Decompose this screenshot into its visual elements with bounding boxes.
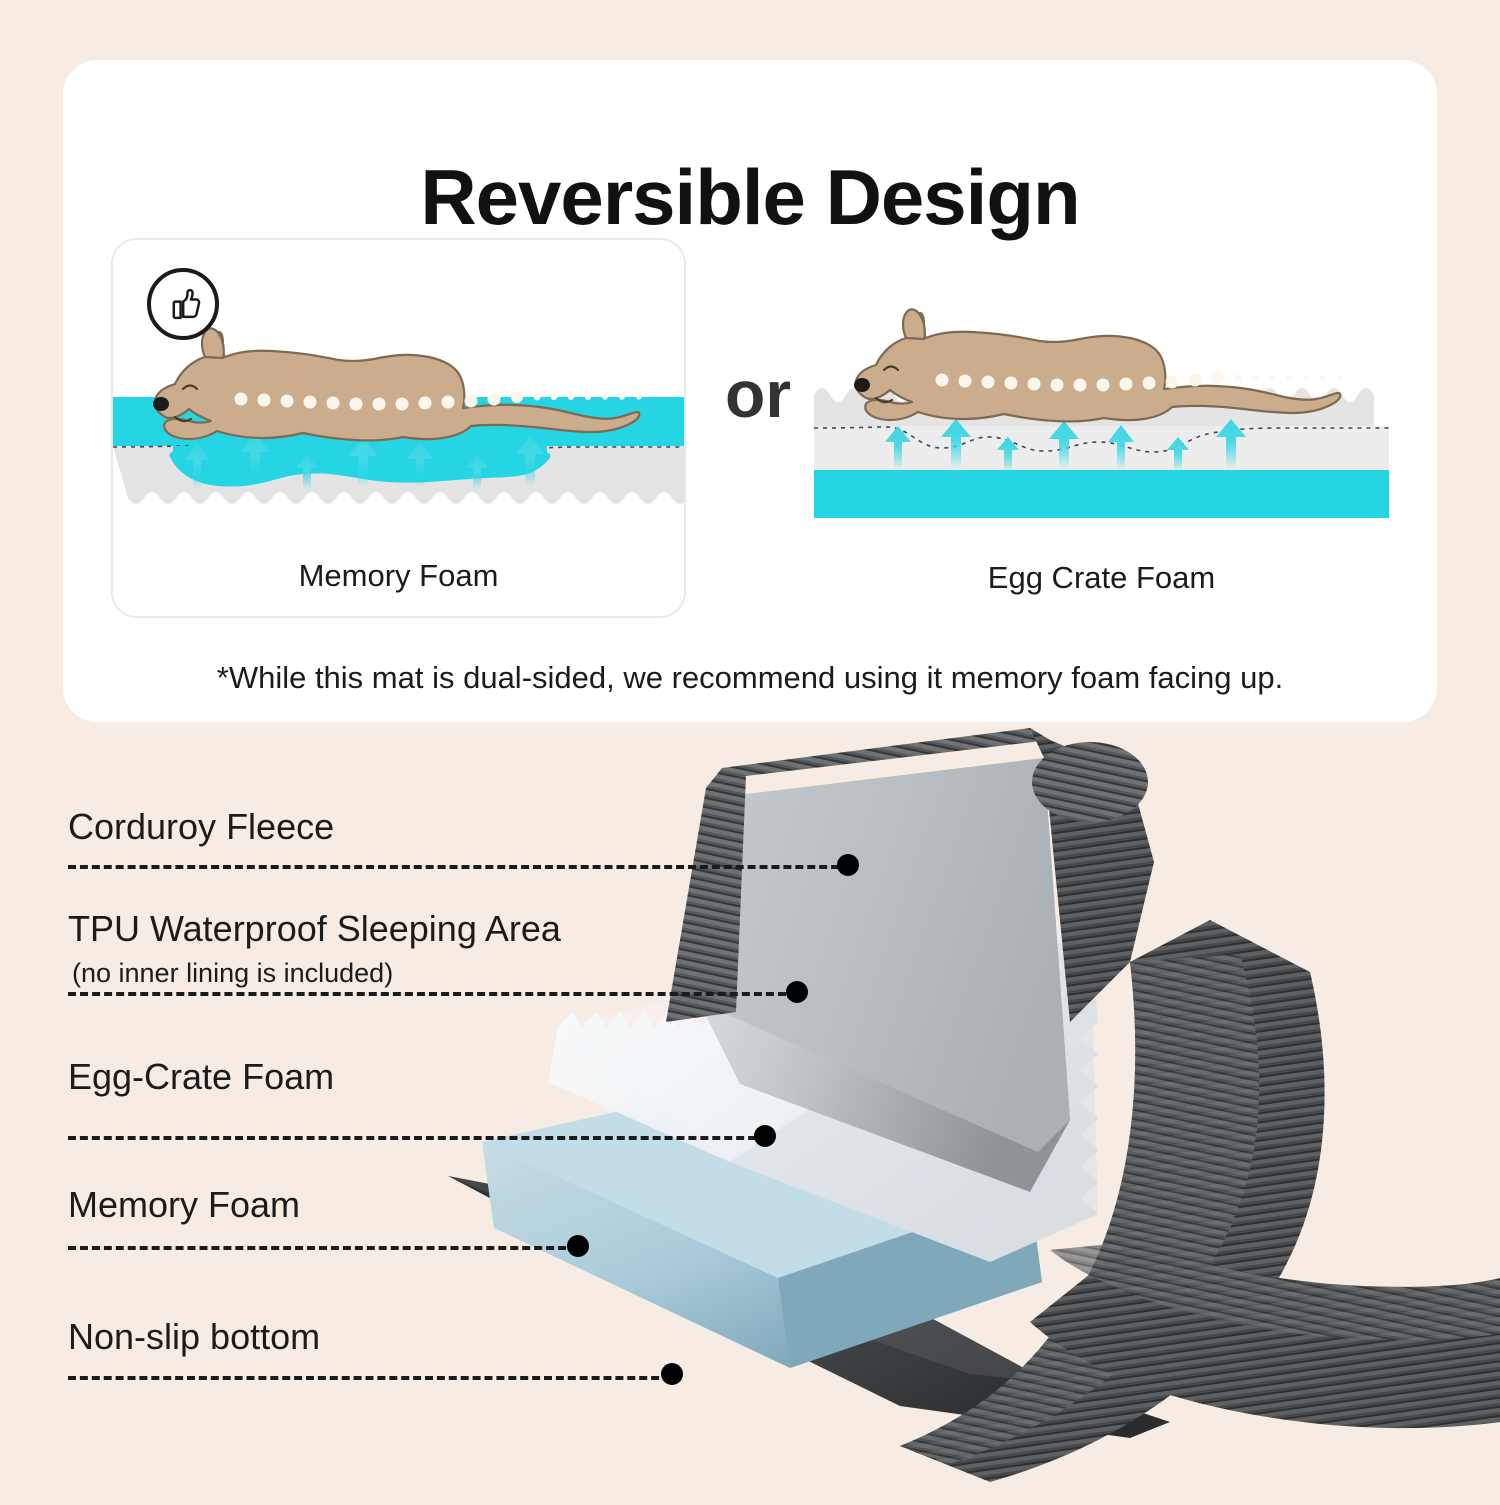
callout-line-memory-foam [68, 1246, 578, 1250]
panel-egg-crate-foam-label: Egg Crate Foam [814, 560, 1389, 596]
callout-dot-tpu-waterproof [786, 981, 808, 1003]
callout-title-non-slip-bottom: Non-slip bottom [68, 1316, 320, 1358]
callout-line-tpu-waterproof [68, 992, 798, 996]
callout-title-egg-crate-foam: Egg-Crate Foam [68, 1056, 334, 1098]
callout-line-non-slip-bottom [68, 1376, 671, 1380]
callout-title-tpu-waterproof: TPU Waterproof Sleeping Area [68, 908, 561, 950]
panel-egg-crate-foam: Egg Crate Foam [814, 238, 1389, 618]
panel-memory-foam-label: Memory Foam [113, 558, 684, 594]
or-separator-label: or [703, 356, 813, 432]
footnote-text: *While this mat is dual-sided, we recomm… [63, 660, 1437, 696]
callout-dot-non-slip-bottom [661, 1363, 683, 1385]
callout-title-memory-foam: Memory Foam [68, 1184, 300, 1226]
callout-line-egg-crate-foam [68, 1136, 768, 1140]
thumbs-up-icon [147, 268, 219, 340]
callout-dot-memory-foam [567, 1235, 589, 1257]
reversible-design-card: Reversible Design [63, 60, 1437, 722]
panel-memory-foam: Memory Foam [111, 238, 686, 618]
egg-crate-foam-illustration [814, 238, 1389, 538]
comparison-row: Memory Foam or [111, 238, 1389, 628]
callout-dot-corduroy-fleece [837, 854, 859, 876]
callout-title-corduroy-fleece: Corduroy Fleece [68, 806, 334, 848]
product-cutaway-image [430, 722, 1500, 1500]
layer-breakdown-section: Corduroy Fleece TPU Waterproof Sleeping … [0, 722, 1500, 1500]
page-title: Reversible Design [63, 152, 1437, 243]
callout-dot-egg-crate-foam [754, 1125, 776, 1147]
callout-sub-tpu-waterproof: (no inner lining is included) [72, 958, 393, 989]
callout-line-corduroy-fleece [68, 865, 851, 869]
